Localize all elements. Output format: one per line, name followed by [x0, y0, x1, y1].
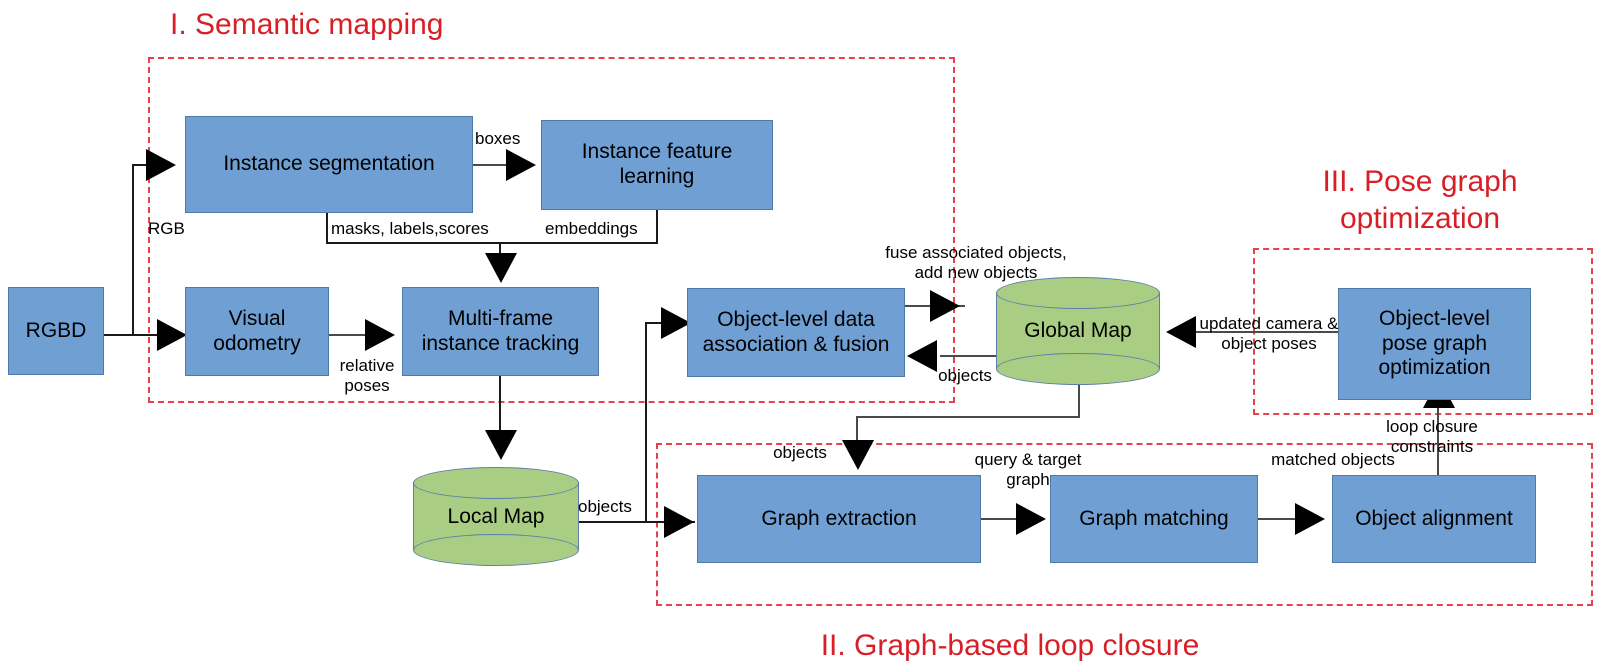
- edge-tracking-to-local-map: [499, 376, 501, 436]
- arrowhead-to-instance-segmentation: [146, 149, 176, 181]
- section-title-loop-closure: II. Graph-based loop closure: [760, 627, 1260, 664]
- edge-local-map-riser: [645, 322, 647, 522]
- edge-label-embeddings: embeddings: [545, 219, 675, 239]
- edge-local-map-objects-out: [578, 521, 648, 523]
- edge-label-rgb: RGB: [148, 219, 218, 239]
- node-object-alignment[interactable]: Object alignment: [1332, 475, 1536, 563]
- section-title-semantic-mapping: I. Semantic mapping: [170, 6, 590, 43]
- edge-label-updated-poses: updated camera & object poses: [1194, 314, 1344, 353]
- arrowhead-to-graph-matching: [1016, 503, 1046, 535]
- local-map-label: Local Map: [413, 505, 579, 529]
- node-local-map[interactable]: Local Map: [413, 467, 579, 566]
- edge-label-objects-to-graph-extraction: objects: [760, 443, 840, 463]
- edge-rgbd-out: [104, 334, 164, 336]
- edge-global-map-left: [856, 416, 1080, 418]
- arrowhead-to-object-alignment: [1295, 503, 1325, 535]
- edge-masks-riser: [326, 213, 328, 243]
- edge-rgb-riser: [132, 165, 134, 336]
- node-visual-odometry[interactable]: Visual odometry: [185, 287, 329, 376]
- global-map-bottom: [996, 353, 1160, 385]
- edge-label-boxes: boxes: [475, 129, 555, 149]
- arrowhead-to-multi-frame-tracking: [485, 253, 517, 283]
- edge-global-map-objects-back: [940, 355, 1000, 357]
- node-instance-feature-learning[interactable]: Instance feature learning: [541, 120, 773, 210]
- diagram-canvas: I. Semantic mapping II. Graph-based loop…: [0, 0, 1597, 672]
- node-graph-extraction[interactable]: Graph extraction: [697, 475, 981, 563]
- node-instance-segmentation[interactable]: Instance segmentation: [185, 116, 473, 213]
- edge-label-objects-local-map: objects: [578, 497, 648, 517]
- arrowhead-to-instance-feature-learning: [506, 149, 536, 181]
- edge-label-loop-closure-constraints: loop closure constraints: [1352, 417, 1512, 456]
- edge-matched-objects: [1258, 518, 1298, 520]
- arrowhead-to-graph-extraction: [664, 506, 694, 538]
- node-rgbd[interactable]: RGBD: [8, 287, 104, 375]
- arrowhead-to-tracking-horizontal: [365, 319, 395, 351]
- section-title-pose-graph-optimization: III. Pose graph optimization: [1240, 163, 1597, 237]
- edge-label-query-target-graph: query & target graph: [958, 450, 1098, 489]
- edge-global-map-down: [1078, 385, 1080, 417]
- edge-label-masks-labels-scores: masks, labels,scores: [331, 219, 541, 239]
- node-pose-graph-optimization[interactable]: Object-level pose graph optimization: [1338, 288, 1531, 400]
- edge-query-target-graph: [981, 518, 1021, 520]
- node-multi-frame-instance-tracking[interactable]: Multi-frame instance tracking: [402, 287, 599, 376]
- edge-label-objects-from-global-map: objects: [925, 366, 1005, 386]
- arrowhead-to-global-map-from-optimization: [1166, 316, 1196, 348]
- node-object-level-data-association[interactable]: Object-level data association & fusion: [687, 288, 905, 377]
- edge-merge-bus: [326, 242, 658, 244]
- global-map-label: Global Map: [996, 319, 1160, 343]
- edge-label-fuse-add-objects: fuse associated objects, add new objects: [858, 243, 1094, 282]
- local-map-top: [413, 467, 579, 499]
- node-global-map[interactable]: Global Map: [996, 277, 1160, 385]
- arrowhead-global-objects-to-extraction: [842, 440, 874, 470]
- arrowhead-to-local-map: [485, 430, 517, 460]
- local-map-bottom: [413, 534, 579, 566]
- edge-label-relative-poses: relative poses: [327, 356, 407, 395]
- arrowhead-to-global-map: [930, 290, 960, 322]
- arrowhead-to-visual-odometry: [157, 319, 187, 351]
- edge-relative-poses: [329, 334, 369, 336]
